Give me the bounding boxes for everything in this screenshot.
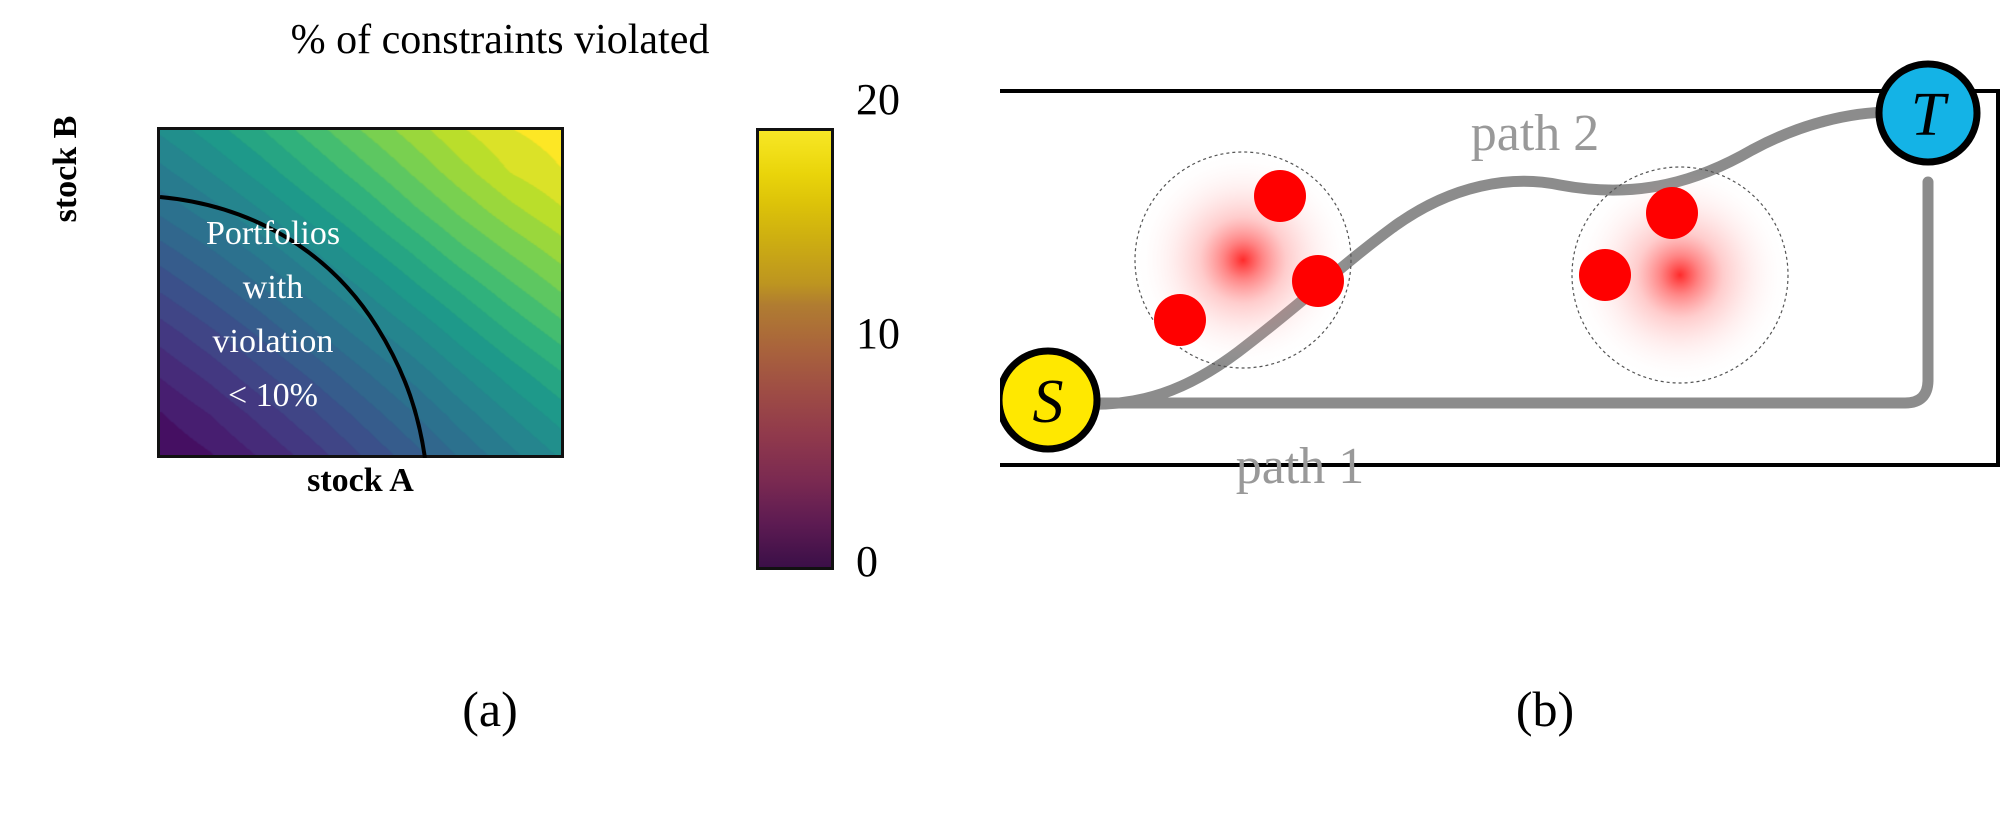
figure-root: % of constraints violated stock B Portfo… (0, 0, 2012, 816)
source-node-s[interactable]: S (1000, 351, 1097, 449)
source-node-label: S (1033, 368, 1064, 436)
obstacle-point (1579, 249, 1631, 301)
axis-label-y: stock B (47, 39, 85, 299)
obstacle-point (1646, 187, 1698, 239)
heatmap-contour-overlay (157, 127, 564, 458)
colorbar (756, 128, 834, 570)
heatmap-plot-area: Portfolios with violation < 10% (157, 127, 558, 452)
axis-label-x: stock A (157, 462, 564, 500)
obstacle-point (1154, 294, 1206, 346)
subcaption-a: (a) (420, 680, 560, 738)
obstacle-cluster-1 (1135, 152, 1351, 368)
obstacle-point (1254, 170, 1306, 222)
path-2-label: path 2 (1471, 105, 1600, 162)
target-node-t[interactable]: T (1879, 64, 1977, 162)
colorbar-tick-10: 10 (856, 312, 900, 356)
path-1-label: path 1 (1236, 438, 1365, 495)
colorbar-tick-20: 20 (856, 78, 900, 122)
subcaption-b: (b) (1475, 680, 1615, 738)
heatmap-title: % of constraints violated (150, 16, 850, 64)
obstacle-point (1292, 255, 1344, 307)
obstacle-cluster-2 (1572, 167, 1788, 383)
colorbar-tick-0: 0 (856, 540, 878, 584)
target-node-label: T (1911, 81, 1950, 149)
contour-line-10-percent (160, 197, 425, 458)
